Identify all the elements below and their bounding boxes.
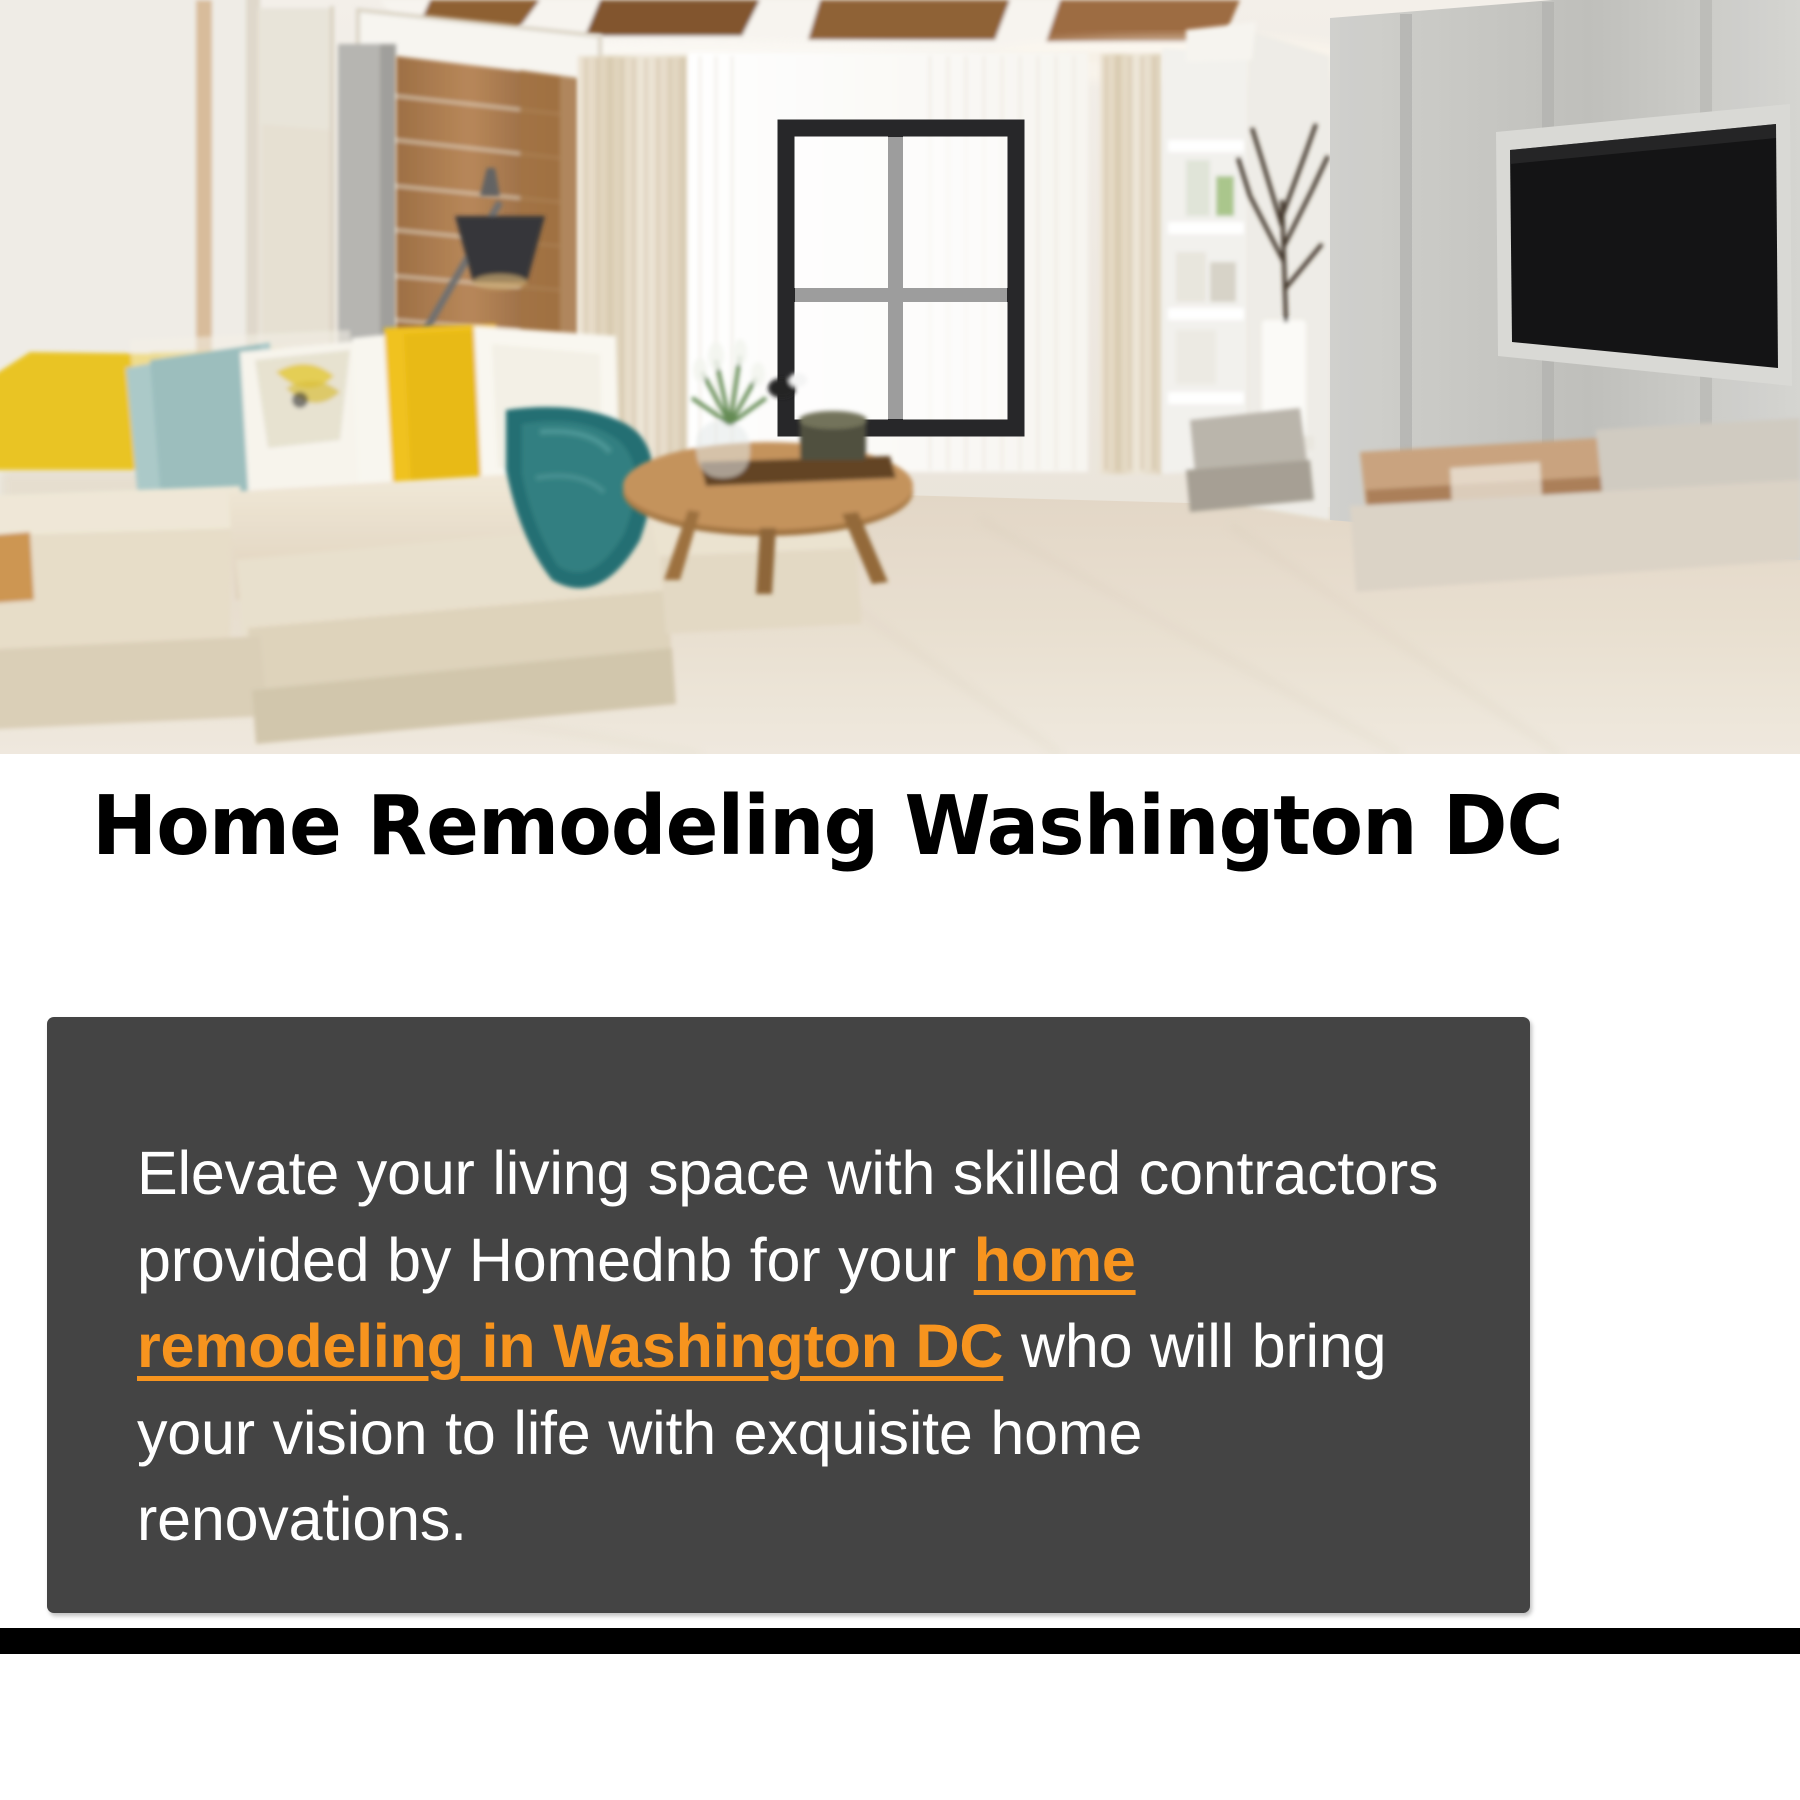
- page-title: Home Remodeling Washington DC: [0, 772, 1800, 892]
- page-title-text: Home Remodeling Washington DC: [92, 772, 1563, 882]
- footer-white-area: [0, 1654, 1800, 1800]
- description-lead-text: Elevate your living space with skilled c…: [137, 1139, 1438, 1294]
- footer-black-bar: [0, 1628, 1800, 1654]
- hero-image: [0, 0, 1800, 754]
- living-room-illustration: [0, 0, 1800, 754]
- description-paragraph: Elevate your living space with skilled c…: [137, 1130, 1460, 1563]
- description-card: Elevate your living space with skilled c…: [47, 1017, 1530, 1613]
